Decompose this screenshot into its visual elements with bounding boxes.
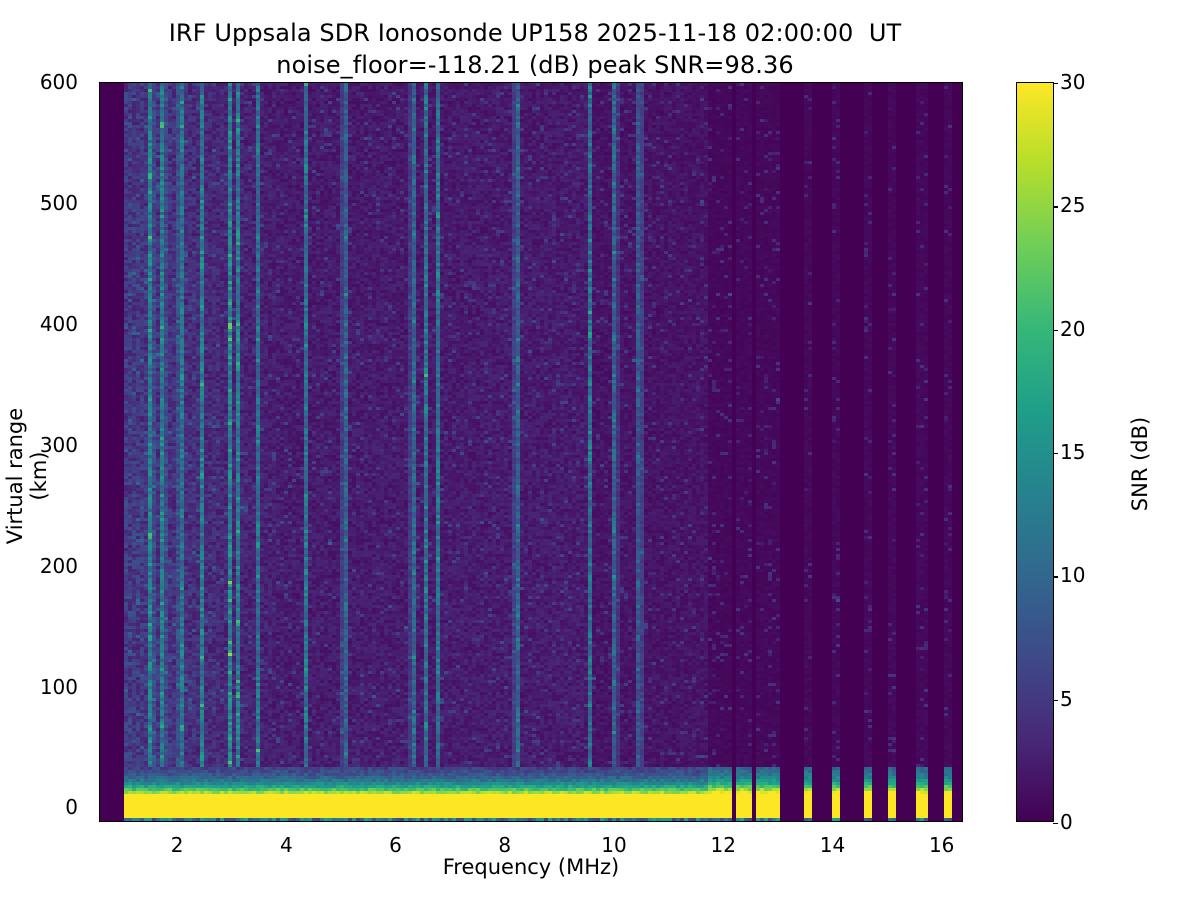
x-tick-label: 16 [929,833,954,857]
ionogram-figure: IRF Uppsala SDR Ionosonde UP158 2025-11-… [0,0,1200,900]
colorbar-tick-label: 30 [1060,70,1085,94]
x-tick-label: 6 [389,833,402,857]
colorbar-tick-mark [1053,330,1058,331]
y-tick-mark [99,204,100,205]
colorbar-tick-label: 15 [1060,440,1085,464]
y-axis-label: Virtual range (km) [3,386,51,566]
colorbar-label: SNR (dB) [1128,364,1152,564]
colorbar-ticks: 051015202530 [1060,82,1120,822]
colorbar-tick-label: 0 [1060,810,1073,834]
y-tick-mark [99,688,100,689]
y-tick-label: 500 [40,191,78,215]
colorbar-tick-label: 25 [1060,193,1085,217]
y-tick-label: 100 [40,675,78,699]
colorbar-tick-mark [1053,576,1058,577]
colorbar-tick-label: 5 [1060,687,1073,711]
y-tick-mark [99,446,100,447]
y-tick-mark [99,83,100,84]
colorbar [1016,82,1054,822]
figure-title: IRF Uppsala SDR Ionosonde UP158 2025-11-… [0,18,1070,81]
y-tick-mark [99,808,100,809]
y-tick-mark [99,567,100,568]
x-tick-label: 8 [498,833,511,857]
colorbar-tick-mark [1053,700,1058,701]
title-line-primary: IRF Uppsala SDR Ionosonde UP158 2025-11-… [0,18,1070,50]
ionogram-heatmap [100,83,963,822]
y-tick-label: 400 [40,312,78,336]
x-tick-label: 12 [711,833,736,857]
x-tick-label: 14 [820,833,845,857]
colorbar-tick-mark [1053,823,1058,824]
colorbar-tick-mark [1053,453,1058,454]
x-tick-label: 4 [280,833,293,857]
x-axis-label: Frequency (MHz) [99,855,963,879]
colorbar-tick-mark [1053,83,1058,84]
x-tick-label: 2 [171,833,184,857]
colorbar-gradient [1017,83,1053,821]
y-tick-label: 0 [65,795,78,819]
y-tick-mark [99,325,100,326]
colorbar-tick-label: 20 [1060,317,1085,341]
plot-axes [99,82,963,822]
x-tick-label: 10 [601,833,626,857]
colorbar-tick-label: 10 [1060,563,1085,587]
colorbar-tick-mark [1053,206,1058,207]
title-line-secondary: noise_floor=-118.21 (dB) peak SNR=98.36 [0,50,1070,82]
y-tick-label: 600 [40,70,78,94]
